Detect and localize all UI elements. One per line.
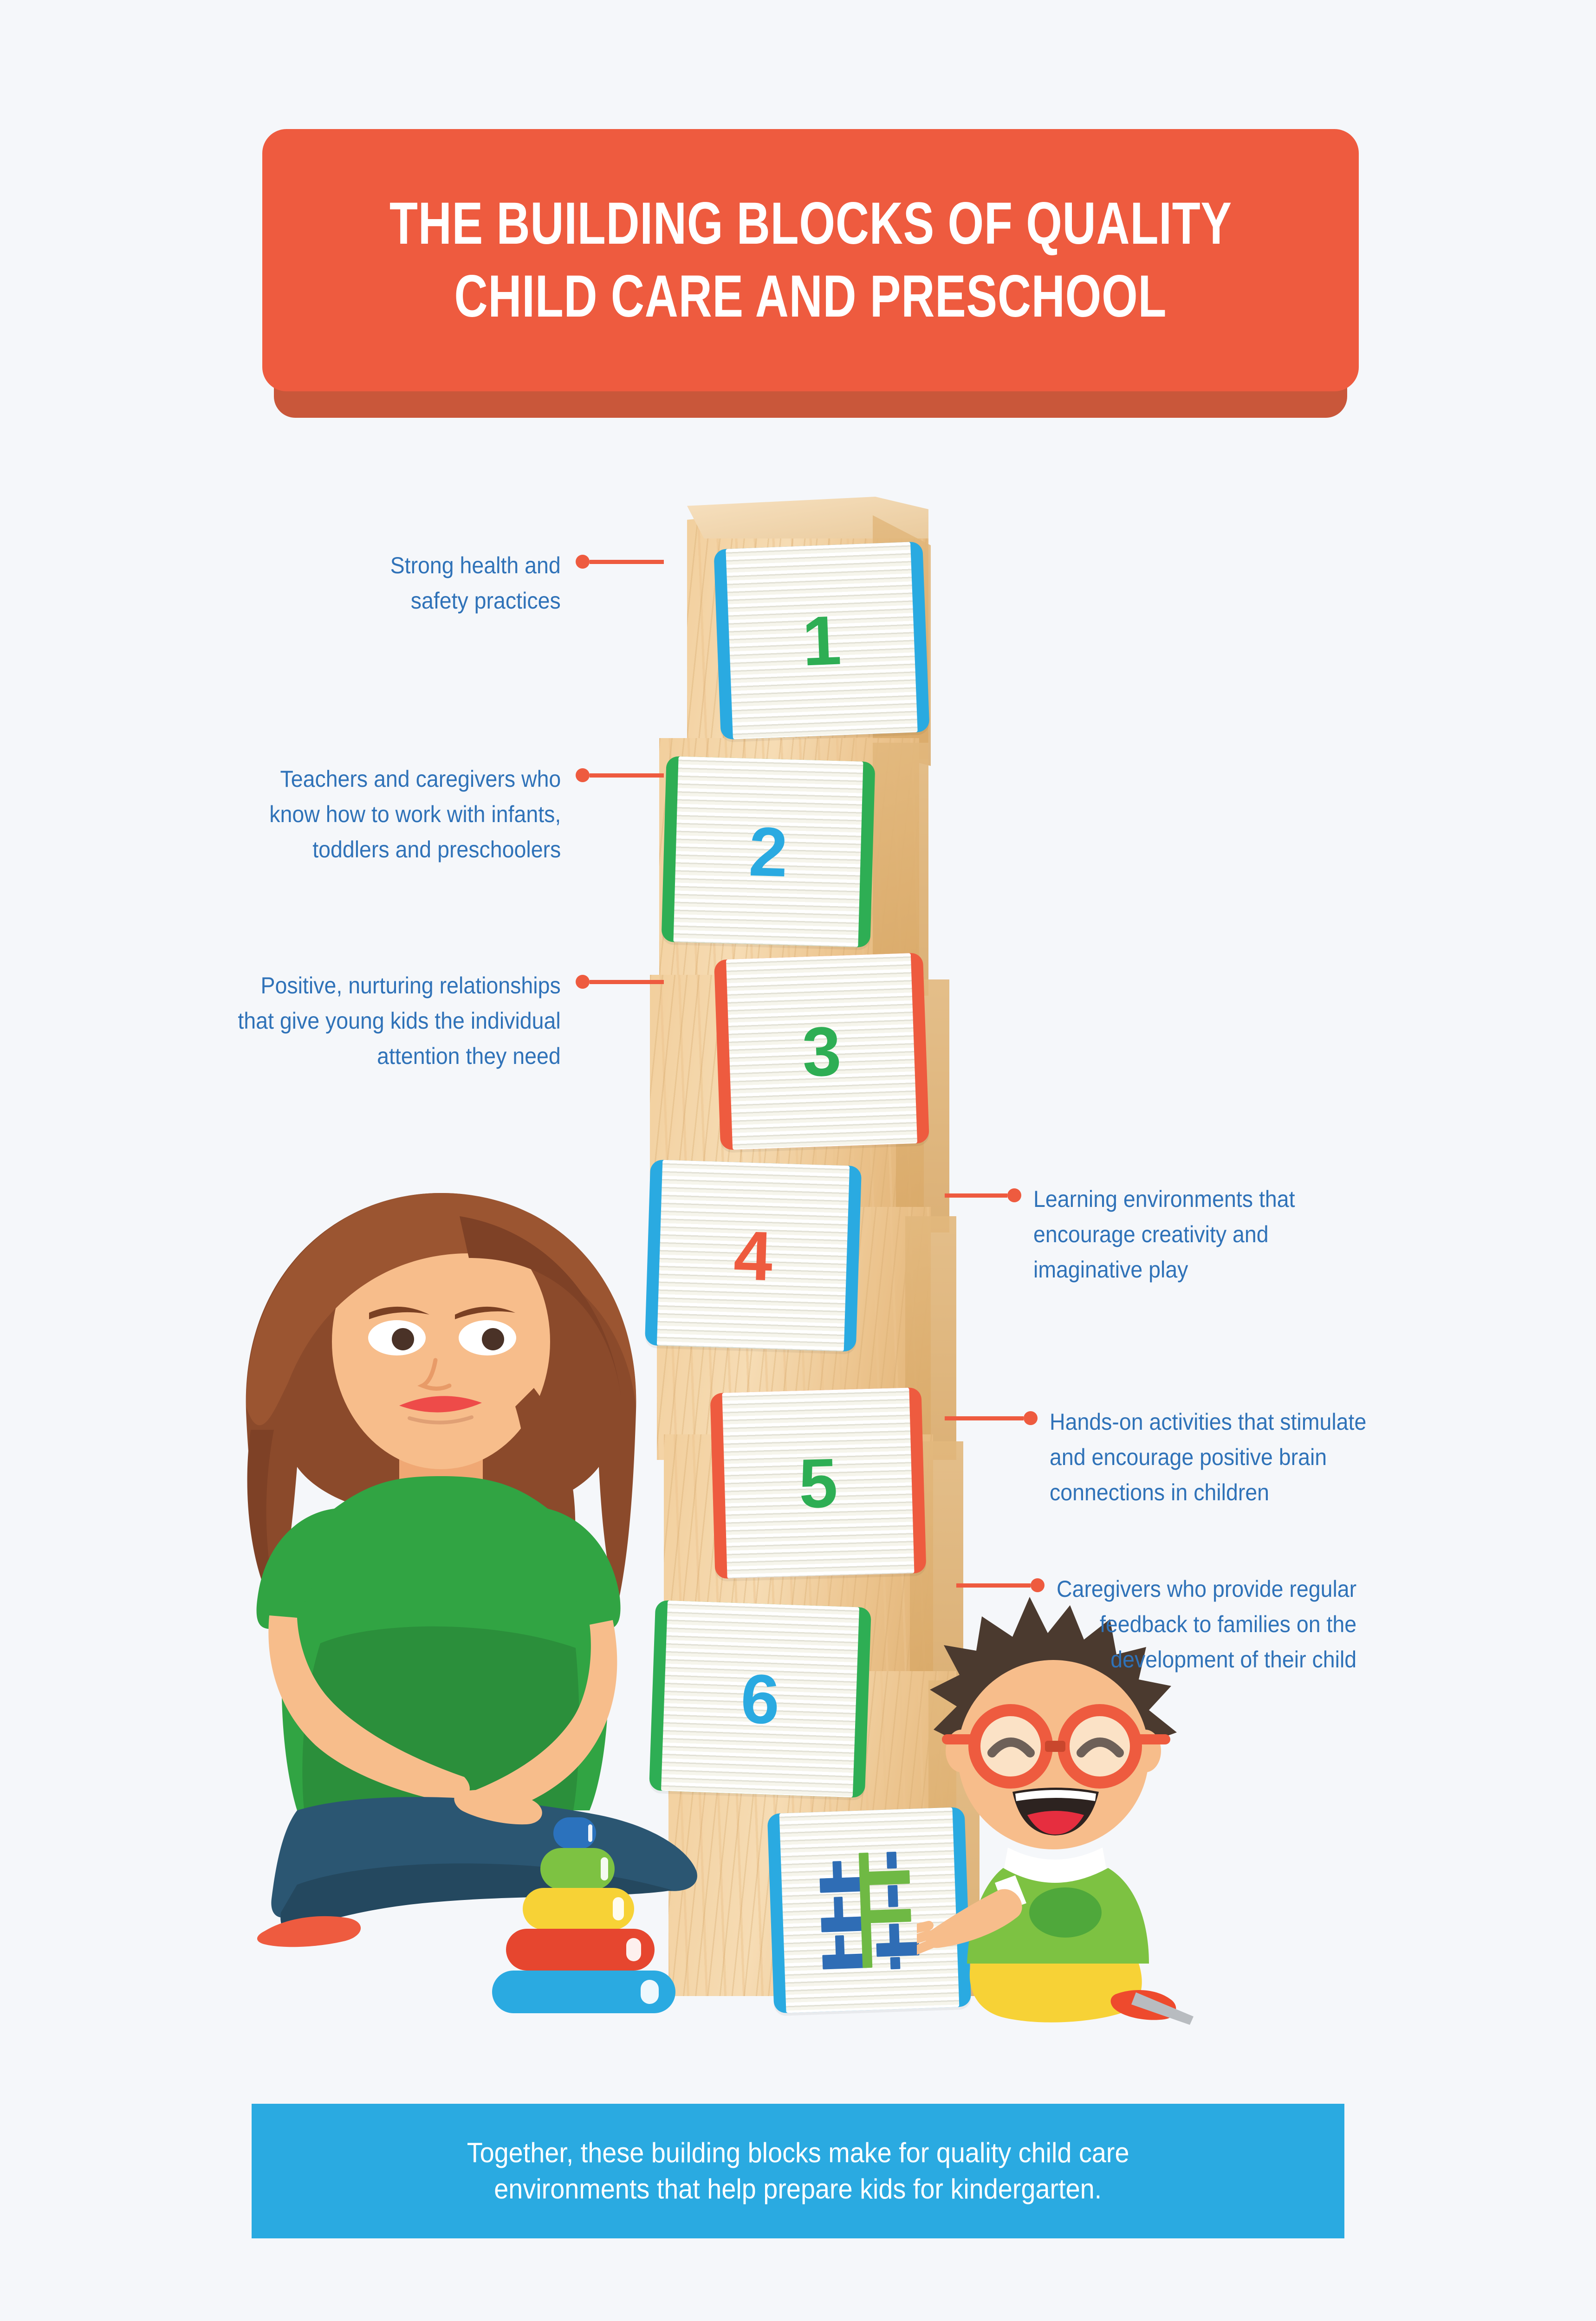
connector-dot-icon bbox=[1007, 1188, 1021, 1202]
boy-glasses-temple-right bbox=[1131, 1734, 1170, 1744]
stacking-ring-toy[interactable] bbox=[483, 1817, 682, 2022]
footer-banner: Together, these building blocks make for… bbox=[252, 2104, 1344, 2238]
ring-cyan-bottom bbox=[492, 1971, 675, 2013]
callout-5-text: Hands-on activities that stimulate and e… bbox=[1050, 1404, 1366, 1510]
woman-pupil-left bbox=[392, 1328, 414, 1350]
title-line-2: CHILD CARE AND PRESCHOOL bbox=[454, 260, 1167, 333]
callout-3-text: Positive, nurturing relationships that g… bbox=[238, 968, 561, 1074]
boy-glasses-bridge bbox=[1045, 1741, 1065, 1752]
callout-5: Hands-on activities that stimulate and e… bbox=[945, 1404, 1516, 1510]
callout-1: Strong health and safety practices bbox=[297, 548, 664, 618]
connector-line bbox=[945, 1416, 1024, 1420]
block-3-number: 3 bbox=[801, 1016, 843, 1087]
ring-shine bbox=[588, 1824, 592, 1842]
footer-line-2: environments that help prepare kids for … bbox=[494, 2171, 1102, 2207]
ring-green bbox=[540, 1848, 615, 1890]
connector-dot-icon bbox=[576, 555, 590, 569]
connector-line bbox=[956, 1583, 1031, 1588]
callout-4-text: Learning environments that encourage cre… bbox=[1033, 1181, 1295, 1287]
ring-shine bbox=[641, 1980, 659, 2004]
callout-1-connector bbox=[576, 548, 664, 576]
boy-glasses-temple-left bbox=[942, 1734, 979, 1744]
block-1-face: 1 bbox=[726, 542, 917, 739]
block-2-number: 2 bbox=[748, 817, 789, 887]
connector-dot-icon bbox=[1031, 1578, 1045, 1592]
ring-shine bbox=[626, 1938, 641, 1961]
title-banner: THE BUILDING BLOCKS OF QUALITY CHILD CAR… bbox=[262, 129, 1359, 391]
callout-3: Positive, nurturing relationships that g… bbox=[139, 968, 664, 1074]
number-block-1[interactable]: 1 bbox=[714, 542, 929, 740]
callout-2-text: Teachers and caregivers who know how to … bbox=[269, 761, 561, 867]
boy-hand-fingers bbox=[917, 1926, 931, 1951]
ring-yellow bbox=[523, 1888, 634, 1930]
callout-2: Teachers and caregivers who know how to … bbox=[153, 761, 664, 867]
connector-line bbox=[945, 1193, 1007, 1198]
block-3-face: 3 bbox=[726, 953, 917, 1150]
block-5-number: 5 bbox=[798, 1448, 839, 1518]
connector-line bbox=[590, 773, 664, 778]
ring-blue-top bbox=[553, 1817, 596, 1849]
woman-shoe bbox=[257, 1916, 361, 1947]
block-6-number: 6 bbox=[740, 1664, 781, 1735]
block-2-face: 2 bbox=[673, 757, 863, 947]
ring-red bbox=[506, 1929, 655, 1971]
callout-6: Caregivers who provide regular feedback … bbox=[956, 1571, 1523, 1677]
callout-5-connector bbox=[945, 1404, 1038, 1432]
callout-6-text: Caregivers who provide regular feedback … bbox=[1057, 1571, 1356, 1677]
callout-6-connector bbox=[956, 1571, 1045, 1599]
callout-2-connector bbox=[576, 761, 664, 789]
block-4-number: 4 bbox=[733, 1220, 773, 1291]
title-line-1: THE BUILDING BLOCKS OF QUALITY bbox=[389, 188, 1232, 260]
woman-pupil-right bbox=[482, 1328, 504, 1350]
block-5-face: 5 bbox=[722, 1387, 914, 1578]
boy-pants bbox=[970, 1964, 1142, 2023]
callout-4-connector bbox=[945, 1181, 1021, 1209]
infographic-canvas: THE BUILDING BLOCKS OF QUALITY CHILD CAR… bbox=[0, 0, 1596, 2321]
callout-4: Learning environments that encourage cre… bbox=[945, 1181, 1492, 1287]
connector-dot-icon bbox=[576, 975, 590, 989]
connector-dot-icon bbox=[1024, 1411, 1038, 1425]
boy-shirt-shade bbox=[1029, 1887, 1102, 1938]
footer-line-1: Together, these building blocks make for… bbox=[467, 2135, 1129, 2171]
number-block-2[interactable]: 2 bbox=[662, 756, 876, 947]
connector-line bbox=[590, 560, 664, 564]
first-things-first-hash-mark-icon bbox=[819, 1848, 920, 1971]
ring-shine bbox=[613, 1897, 624, 1920]
connector-line bbox=[590, 980, 664, 984]
number-block-3[interactable]: 3 bbox=[714, 953, 929, 1150]
number-block-5[interactable]: 5 bbox=[710, 1387, 927, 1579]
connector-dot-icon bbox=[576, 768, 590, 782]
callout-1-text: Strong health and safety practices bbox=[390, 548, 561, 618]
ring-shine bbox=[601, 1857, 608, 1880]
callout-3-connector bbox=[576, 968, 664, 996]
block-1-number: 1 bbox=[801, 605, 842, 676]
